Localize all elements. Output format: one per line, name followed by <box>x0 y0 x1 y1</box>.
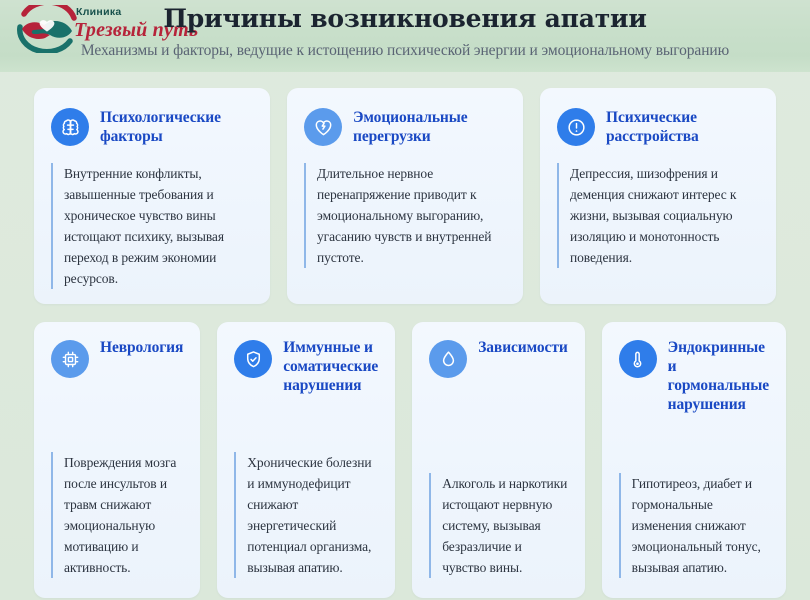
card-emotional-overload[interactable]: Эмоциональные перегрузки Длительное нерв… <box>287 88 523 304</box>
card-header: Неврология <box>51 338 183 382</box>
broken-heart-icon <box>304 108 342 146</box>
card-description: Гипотиреоз, диабет и гормональные измене… <box>619 473 769 578</box>
card-title: Иммунные и соматические нарушения <box>283 338 378 395</box>
card-header: Психические расстройства <box>557 105 759 149</box>
infographic-page: Клиника Трезвый путь Причины возникновен… <box>0 0 810 600</box>
card-title: Неврология <box>100 338 183 357</box>
card-description: Алкоголь и наркотики истощают нервную си… <box>429 473 567 578</box>
exclamation-circle-icon <box>557 108 595 146</box>
card-description: Повреждения мозга после инсультов и трав… <box>51 452 183 578</box>
card-title: Психические расстройства <box>606 108 759 146</box>
card-description: Депрессия, шизофрения и деменция снижают… <box>557 163 759 268</box>
card-addictions[interactable]: Зависимости Алкоголь и наркотики истощаю… <box>412 322 584 598</box>
microchip-icon <box>51 340 89 378</box>
card-description: Длительное нервное перенапряжение привод… <box>304 163 506 268</box>
card-header: Иммунные и соматические нарушения <box>234 338 378 395</box>
card-description: Внутренние конфликты, завышенные требова… <box>51 163 253 289</box>
page-subtitle: Механизмы и факторы, ведущие к истощению… <box>0 41 810 61</box>
card-header: Психологические факторы <box>51 105 253 149</box>
card-header: Эндокринные и гормональные нарушения <box>619 338 769 414</box>
cards-grid: Психологические факторы Внутренние конфл… <box>0 72 810 600</box>
card-header: Эмоциональные перегрузки <box>304 105 506 149</box>
card-header: Зависимости <box>429 338 567 382</box>
card-endocrine-hormonal[interactable]: Эндокринные и гормональные нарушения Гип… <box>602 322 786 598</box>
card-immune-somatic[interactable]: Иммунные и соматические нарушения Хронич… <box>217 322 395 598</box>
water-drop-icon <box>429 340 467 378</box>
card-mental-disorders[interactable]: Психические расстройства Депрессия, шизо… <box>540 88 776 304</box>
page-title: Причины возникновения апатии <box>0 3 810 35</box>
card-psychological-factors[interactable]: Психологические факторы Внутренние конфл… <box>34 88 270 304</box>
card-neurology[interactable]: Неврология Повреждения мозга после инсул… <box>34 322 200 598</box>
card-title: Психологические факторы <box>100 108 253 146</box>
cards-row-top: Психологические факторы Внутренние конфл… <box>34 88 776 304</box>
page-header: Клиника Трезвый путь Причины возникновен… <box>0 0 810 72</box>
brain-icon <box>51 108 89 146</box>
card-title: Эмоциональные перегрузки <box>353 108 506 146</box>
card-title: Зависимости <box>478 338 567 357</box>
cards-row-bottom: Неврология Повреждения мозга после инсул… <box>34 322 776 598</box>
shield-check-icon <box>234 340 272 378</box>
card-description: Хронические болезни и иммунодефицит сниж… <box>234 452 378 578</box>
thermometer-icon <box>619 340 657 378</box>
card-title: Эндокринные и гормональные нарушения <box>668 338 769 414</box>
